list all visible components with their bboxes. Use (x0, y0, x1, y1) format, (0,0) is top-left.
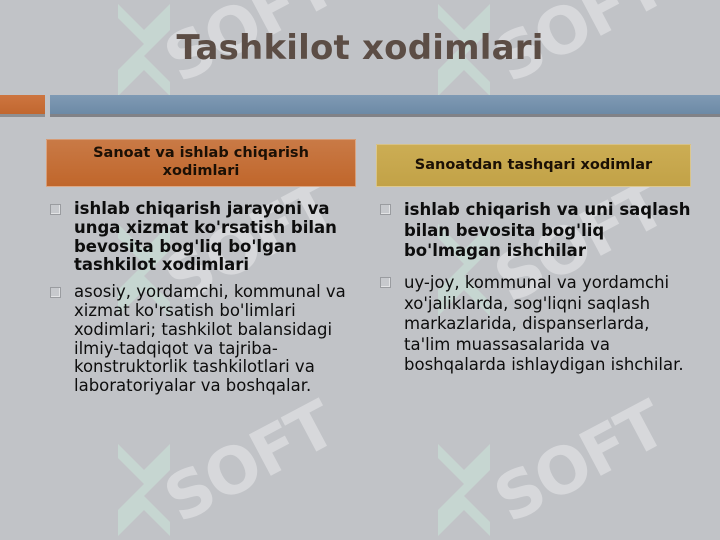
column-left-header: Sanoat va ishlab chiqarish xodimlari (46, 139, 356, 187)
list-item: ishlab chiqarish va uni saqlash bilan be… (376, 200, 691, 262)
square-bullet-icon (380, 204, 391, 215)
k-arrow-logo-icon (110, 440, 182, 536)
column-left-bullet-list: ishlab chiqarish jarayoni va unga xizmat… (46, 200, 356, 396)
column-right-header: Sanoatdan tashqari xodimlar (376, 144, 691, 187)
title-divider-bar (0, 95, 720, 120)
divider-main-bar (50, 95, 720, 117)
square-bullet-icon (380, 277, 391, 288)
divider-accent-block (0, 95, 45, 117)
list-item: asosiy, yordamchi, kommunal va xizmat ko… (46, 283, 356, 396)
square-bullet-icon (50, 204, 61, 215)
square-bullet-icon (50, 287, 61, 298)
column-left: Sanoat va ishlab chiqarish xodimlari ish… (46, 139, 356, 404)
list-item: uy-joy, kommunal va yordamchi xo'jalikla… (376, 273, 691, 376)
k-arrow-logo-icon (430, 440, 502, 536)
list-item: ishlab chiqarish jarayoni va unga xizmat… (46, 200, 356, 275)
watermark-text: SOFT (153, 388, 347, 538)
list-item-text: ishlab chiqarish jarayoni va unga xizmat… (74, 199, 337, 274)
page-title: Tashkilot xodimlari (0, 28, 720, 68)
column-right: Sanoatdan tashqari xodimlar ishlab chiqa… (376, 139, 691, 387)
column-right-bullet-list: ishlab chiqarish va uni saqlash bilan be… (376, 200, 691, 376)
watermark-text: SOFT (483, 388, 677, 538)
list-item-text: asosiy, yordamchi, kommunal va xizmat ko… (74, 282, 346, 395)
list-item-text: uy-joy, kommunal va yordamchi xo'jalikla… (404, 273, 684, 375)
list-item-text: ishlab chiqarish va uni saqlash bilan be… (404, 200, 690, 260)
presentation-slide: SOFT SOFT SOFT SOFT SOFT SOFT Tashkilot … (0, 0, 720, 540)
